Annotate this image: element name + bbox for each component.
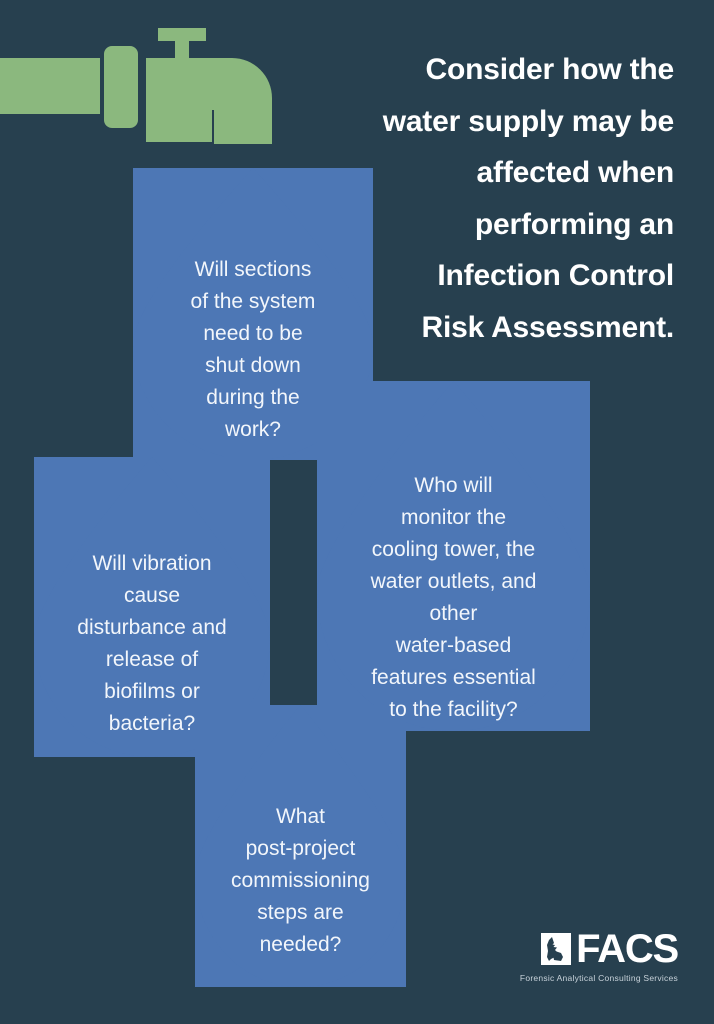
faucet-icon — [0, 22, 300, 162]
droplet-monitoring: Who will monitor the cooling tower, the … — [317, 381, 590, 731]
droplet-commissioning: What post-project commissioning steps ar… — [195, 705, 406, 987]
droplet-text: What post-project commissioning steps ar… — [225, 801, 376, 961]
facs-mark-icon — [541, 933, 571, 965]
facs-logo: FACS Forensic Analytical Consulting Serv… — [506, 929, 678, 983]
logo-wordmark: FACS — [576, 929, 678, 969]
droplet-text: Who will monitor the cooling tower, the … — [365, 470, 543, 725]
page-title: Consider how the water supply may be aff… — [374, 44, 674, 354]
droplet-text: Will vibration cause disturbance and rel… — [71, 548, 232, 739]
droplet-text: Will sections of the system need to be s… — [185, 254, 322, 445]
infographic-poster: Consider how the water supply may be aff… — [0, 0, 714, 1024]
logo-tagline: Forensic Analytical Consulting Services — [506, 974, 678, 983]
logo-row: FACS — [506, 929, 678, 969]
